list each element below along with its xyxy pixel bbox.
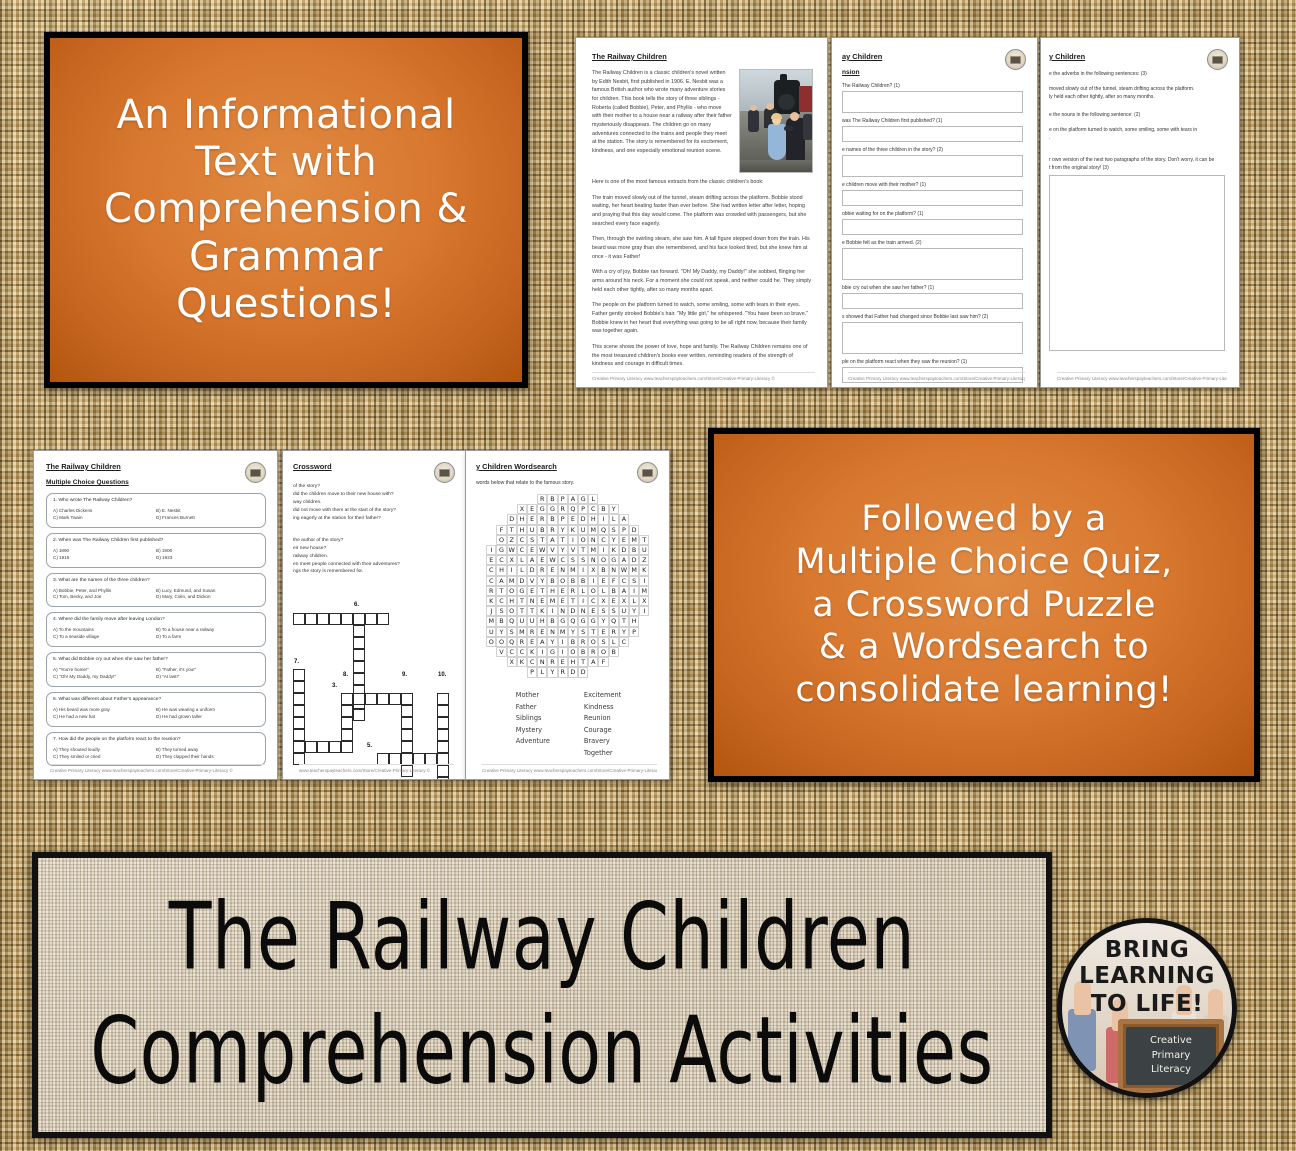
wordsearch-cell[interactable]: Q [507, 637, 517, 647]
wordsearch-cell[interactable]: T [578, 657, 588, 667]
wordsearch-cell[interactable]: L [517, 555, 527, 565]
wordsearch-cell[interactable]: E [537, 555, 547, 565]
crossword-cell[interactable] [437, 741, 449, 753]
wordsearch-cell[interactable]: G [558, 616, 568, 626]
crossword-cell[interactable] [353, 637, 365, 649]
wordsearch-cell[interactable]: G [609, 555, 619, 565]
crossword-cell[interactable] [353, 613, 365, 625]
crossword-cell[interactable] [437, 729, 449, 741]
wordsearch-cell[interactable]: S [496, 606, 506, 616]
wordsearch-cell[interactable]: N [547, 627, 557, 637]
wordsearch-cell[interactable]: T [537, 586, 547, 596]
answer-box[interactable] [842, 126, 1023, 142]
wordsearch-cell[interactable]: L [588, 494, 598, 504]
wordsearch-cell[interactable]: U [527, 525, 537, 535]
wordsearch-cell[interactable]: E [527, 504, 537, 514]
wordsearch-cell[interactable]: B [578, 576, 588, 586]
wordsearch-cell[interactable]: E [527, 586, 537, 596]
wordsearch-cell[interactable]: L [629, 596, 639, 606]
wordsearch-cell[interactable]: E [527, 514, 537, 524]
wordsearch-cell[interactable]: F [598, 657, 608, 667]
wordsearch-cell[interactable]: H [496, 565, 506, 575]
wordsearch-cell[interactable]: I [588, 576, 598, 586]
wordsearch-cell[interactable]: S [609, 606, 619, 616]
wordsearch-cell[interactable]: O [486, 637, 496, 647]
wordsearch-cell[interactable]: R [537, 514, 547, 524]
mc-option-d[interactable]: D) Frances Burnett [156, 515, 259, 522]
mc-option-d[interactable]: D) 1923 [156, 555, 259, 562]
wordsearch-cell[interactable]: N [558, 565, 568, 575]
wordsearch-cell[interactable]: I [558, 637, 568, 647]
wordsearch-cell[interactable]: C [486, 565, 496, 575]
wordsearch-cell[interactable]: I [639, 576, 649, 586]
wordsearch-cell[interactable]: G [547, 504, 557, 514]
wordsearch-cell[interactable]: O [588, 637, 598, 647]
wordsearch-cell[interactable]: S [578, 555, 588, 565]
crossword-cell[interactable] [353, 649, 365, 661]
wordsearch-cell[interactable]: B [547, 576, 557, 586]
wordsearch-cell[interactable]: I [598, 545, 608, 555]
crossword-cell[interactable] [293, 729, 305, 741]
wordsearch-cell[interactable]: W [547, 555, 557, 565]
wordsearch-cell[interactable]: C [588, 596, 598, 606]
wordsearch-cell[interactable]: E [527, 637, 537, 647]
wordsearch-cell[interactable]: K [568, 525, 578, 535]
wordsearch-cell[interactable]: O [588, 586, 598, 596]
wordsearch-cell[interactable]: C [496, 555, 506, 565]
wordsearch-cell[interactable]: E [619, 535, 629, 545]
wordsearch-cell[interactable]: M [629, 565, 639, 575]
mc-option-b[interactable]: B) They turned away [156, 747, 259, 754]
wordsearch-cell[interactable]: H [517, 514, 527, 524]
crossword-cell[interactable] [317, 741, 329, 753]
wordsearch-cell[interactable]: B [496, 616, 506, 626]
wordsearch-cell[interactable]: H [547, 586, 557, 596]
answer-box[interactable] [842, 293, 1023, 309]
wordsearch-cell[interactable]: X [507, 657, 517, 667]
wordsearch-cell[interactable]: R [558, 667, 568, 677]
worksheet-page-grammar[interactable]: y Children e the adverbs in the followin… [1040, 37, 1240, 388]
crossword-cell[interactable] [341, 693, 353, 705]
wordsearch-cell[interactable]: Y [496, 627, 506, 637]
wordsearch-cell[interactable]: A [527, 555, 537, 565]
mc-option-c[interactable]: C) Mark Twain [53, 515, 156, 522]
wordsearch-cell[interactable]: Z [507, 535, 517, 545]
crossword-cell[interactable] [293, 741, 305, 753]
mc-option-c[interactable]: C) 1915 [53, 555, 156, 562]
wordsearch-cell[interactable]: P [558, 494, 568, 504]
wordsearch-cell[interactable]: C [517, 647, 527, 657]
worksheet-page-informational-text[interactable]: The Railway Children The Railway Childre… [575, 37, 828, 388]
wordsearch-cell[interactable]: G [547, 647, 557, 657]
crossword-cell[interactable] [293, 613, 305, 625]
wordsearch-cell[interactable]: U [578, 525, 588, 535]
wordsearch-cell[interactable]: R [486, 586, 496, 596]
crossword-cell[interactable] [341, 613, 353, 625]
wordsearch-cell[interactable]: L [598, 586, 608, 596]
wordsearch-cell[interactable]: J [486, 606, 496, 616]
wordsearch-cell[interactable]: L [537, 667, 547, 677]
wordsearch-cell[interactable]: E [527, 545, 537, 555]
wordsearch-cell[interactable]: R [537, 565, 547, 575]
wordsearch-cell[interactable]: X [639, 596, 649, 606]
answer-box[interactable] [842, 248, 1023, 280]
wordsearch-cell[interactable]: B [568, 576, 578, 586]
wordsearch-cell[interactable]: D [619, 545, 629, 555]
wordsearch-cell[interactable]: E [598, 627, 608, 637]
crossword-cell[interactable] [401, 705, 413, 717]
wordsearch-cell[interactable]: I [547, 606, 557, 616]
wordsearch-cell[interactable]: I [578, 565, 588, 575]
crossword-cell[interactable] [389, 693, 401, 705]
wordsearch-grid[interactable]: RBPAGLXEGGRQPCBYDHERBPEDHILAFTHUBRYKUMQS… [476, 494, 662, 680]
wordsearch-cell[interactable]: M [588, 545, 598, 555]
wordsearch-cell[interactable]: X [507, 555, 517, 565]
crossword-cell[interactable] [293, 705, 305, 717]
wordsearch-cell[interactable]: T [517, 606, 527, 616]
wordsearch-cell[interactable]: Z [639, 555, 649, 565]
wordsearch-cell[interactable]: O [496, 535, 506, 545]
wordsearch-cell[interactable]: Y [619, 627, 629, 637]
wordsearch-cell[interactable]: X [588, 565, 598, 575]
wordsearch-cell[interactable]: E [547, 565, 557, 575]
crossword-cell[interactable] [353, 709, 365, 721]
writing-box[interactable] [1049, 175, 1225, 351]
wordsearch-cell[interactable]: E [558, 657, 568, 667]
wordsearch-cell[interactable]: V [568, 545, 578, 555]
crossword-cell[interactable] [437, 705, 449, 717]
wordsearch-cell[interactable]: A [619, 555, 629, 565]
wordsearch-cell[interactable]: N [578, 606, 588, 616]
crossword-cell[interactable] [377, 613, 389, 625]
wordsearch-cell[interactable]: O [507, 586, 517, 596]
wordsearch-cell[interactable]: O [578, 535, 588, 545]
crossword-cell[interactable] [341, 717, 353, 729]
mc-option-c[interactable]: C) He had a new hat [53, 714, 156, 721]
wordsearch-cell[interactable]: H [568, 657, 578, 667]
wordsearch-cell[interactable]: N [558, 606, 568, 616]
wordsearch-cell[interactable]: D [568, 667, 578, 677]
mc-option-d[interactable]: D) He had grown taller [156, 714, 259, 721]
wordsearch-cell[interactable]: L [517, 565, 527, 575]
wordsearch-cell[interactable]: X [598, 596, 608, 606]
wordsearch-cell[interactable]: D [629, 525, 639, 535]
wordsearch-cell[interactable]: D [578, 514, 588, 524]
wordsearch-cell[interactable]: M [629, 535, 639, 545]
wordsearch-cell[interactable]: P [578, 504, 588, 514]
wordsearch-cell[interactable]: T [639, 535, 649, 545]
wordsearch-cell[interactable]: D [527, 565, 537, 575]
wordsearch-cell[interactable]: D [507, 514, 517, 524]
wordsearch-cell[interactable]: T [527, 606, 537, 616]
crossword-cell[interactable] [401, 717, 413, 729]
wordsearch-cell[interactable]: K [517, 657, 527, 667]
wordsearch-cell[interactable]: A [588, 657, 598, 667]
mc-option-b[interactable]: B) To a house near a railway [156, 627, 259, 634]
crossword-cell[interactable] [437, 777, 449, 780]
wordsearch-cell[interactable]: V [527, 576, 537, 586]
wordsearch-cell[interactable]: T [568, 596, 578, 606]
wordsearch-cell[interactable]: S [507, 627, 517, 637]
wordsearch-cell[interactable]: E [537, 596, 547, 606]
wordsearch-cell[interactable]: V [547, 545, 557, 555]
wordsearch-cell[interactable]: Y [609, 535, 619, 545]
wordsearch-cell[interactable]: K [527, 647, 537, 657]
wordsearch-cell[interactable]: P [619, 525, 629, 535]
wordsearch-cell[interactable]: F [496, 525, 506, 535]
wordsearch-cell[interactable]: I [639, 606, 649, 616]
crossword-cell[interactable] [293, 693, 305, 705]
wordsearch-cell[interactable]: I [537, 647, 547, 657]
mc-option-a[interactable]: A) Charles Dickens [53, 508, 156, 515]
wordsearch-cell[interactable]: C [619, 637, 629, 647]
wordsearch-cell[interactable]: Y [609, 504, 619, 514]
wordsearch-cell[interactable]: H [537, 616, 547, 626]
wordsearch-cell[interactable]: T [578, 545, 588, 555]
wordsearch-cell[interactable]: T [619, 616, 629, 626]
mc-option-b[interactable]: B) Lucy, Edmund, and Susan [156, 588, 259, 595]
wordsearch-cell[interactable]: M [558, 627, 568, 637]
answer-box[interactable] [842, 190, 1023, 206]
wordsearch-cell[interactable]: Y [568, 627, 578, 637]
wordsearch-cell[interactable]: S [598, 606, 608, 616]
wordsearch-cell[interactable]: I [568, 535, 578, 545]
crossword-cell[interactable] [353, 661, 365, 673]
wordsearch-cell[interactable]: U [486, 627, 496, 637]
wordsearch-cell[interactable]: T [496, 586, 506, 596]
wordsearch-cell[interactable]: A [547, 535, 557, 545]
wordsearch-cell[interactable]: G [537, 504, 547, 514]
mc-question-block[interactable]: 1. Who wrote The Railway Children? A) Ch… [46, 493, 266, 528]
wordsearch-cell[interactable]: R [578, 637, 588, 647]
crossword-cell[interactable] [353, 693, 365, 705]
wordsearch-cell[interactable]: A [619, 514, 629, 524]
wordsearch-cell[interactable]: G [517, 586, 527, 596]
worksheet-page-comprehension[interactable]: ay Children nsion The Railway Children? … [831, 37, 1038, 388]
mc-option-a[interactable]: A) To the mountains [53, 627, 156, 634]
wordsearch-cell[interactable]: R [568, 586, 578, 596]
wordsearch-cell[interactable]: B [547, 514, 557, 524]
wordsearch-cell[interactable]: I [486, 545, 496, 555]
wordsearch-cell[interactable]: G [496, 545, 506, 555]
crossword-cell[interactable] [293, 717, 305, 729]
wordsearch-cell[interactable]: C [507, 647, 517, 657]
wordsearch-cell[interactable]: N [537, 657, 547, 667]
mc-option-d[interactable]: D) They clapped their hands [156, 754, 259, 761]
wordsearch-cell[interactable]: E [588, 606, 598, 616]
crossword-cell[interactable] [437, 717, 449, 729]
wordsearch-cell[interactable]: S [568, 555, 578, 565]
wordsearch-cell[interactable]: D [578, 667, 588, 677]
answer-box[interactable] [842, 322, 1023, 354]
wordsearch-cell[interactable]: K [537, 606, 547, 616]
wordsearch-cell[interactable]: N [527, 596, 537, 606]
mc-option-c[interactable]: C) They smiled or cried [53, 754, 156, 761]
wordsearch-cell[interactable]: C [517, 545, 527, 555]
wordsearch-cell[interactable]: B [609, 647, 619, 657]
crossword-cell[interactable] [401, 729, 413, 741]
wordsearch-cell[interactable]: Y [558, 525, 568, 535]
answer-box[interactable] [842, 219, 1023, 235]
wordsearch-cell[interactable]: N [609, 565, 619, 575]
wordsearch-cell[interactable]: L [609, 514, 619, 524]
mc-question-block[interactable]: 7. How did the people on the platform re… [46, 732, 266, 767]
wordsearch-cell[interactable]: B [629, 545, 639, 555]
mc-option-c[interactable]: C) Tom, Becky, and Joe [53, 594, 156, 601]
wordsearch-cell[interactable]: Y [598, 616, 608, 626]
wordsearch-cell[interactable]: R [527, 627, 537, 637]
crossword-cell[interactable] [365, 613, 377, 625]
wordsearch-cell[interactable]: D [568, 606, 578, 616]
crossword-cell[interactable] [329, 741, 341, 753]
wordsearch-cell[interactable]: M [588, 525, 598, 535]
mc-question-block[interactable]: 5. What did Bobbie cry out when she saw … [46, 652, 266, 687]
wordsearch-cell[interactable]: R [547, 525, 557, 535]
wordsearch-cell[interactable]: U [527, 616, 537, 626]
mc-option-d[interactable]: D) "At last!" [156, 674, 259, 681]
wordsearch-cell[interactable]: N [588, 555, 598, 565]
mc-option-b[interactable]: B) E. Nesbit [156, 508, 259, 515]
wordsearch-cell[interactable]: M [507, 576, 517, 586]
wordsearch-cell[interactable]: A [537, 637, 547, 647]
wordsearch-cell[interactable]: B [609, 586, 619, 596]
wordsearch-cell[interactable]: L [578, 586, 588, 596]
mc-option-a[interactable]: A) 1890 [53, 548, 156, 555]
wordsearch-cell[interactable]: I [629, 586, 639, 596]
wordsearch-cell[interactable]: Y [629, 606, 639, 616]
wordsearch-cell[interactable]: D [629, 555, 639, 565]
wordsearch-cell[interactable]: Y [547, 637, 557, 647]
mc-question-block[interactable]: 2. When was The Railway Children first p… [46, 533, 266, 568]
crossword-cell[interactable] [353, 625, 365, 637]
wordsearch-cell[interactable]: C [619, 576, 629, 586]
crossword-cell[interactable] [377, 693, 389, 705]
wordsearch-cell[interactable]: B [598, 565, 608, 575]
crossword-cell[interactable] [317, 613, 329, 625]
wordsearch-cell[interactable]: U [639, 545, 649, 555]
wordsearch-cell[interactable]: L [609, 637, 619, 647]
wordsearch-cell[interactable]: T [558, 535, 568, 545]
wordsearch-cell[interactable]: N [588, 535, 598, 545]
mc-option-b[interactable]: B) "Father, it's you!" [156, 667, 259, 674]
crossword-cell[interactable] [365, 693, 377, 705]
crossword-cell[interactable] [341, 705, 353, 717]
wordsearch-cell[interactable]: E [598, 576, 608, 586]
wordsearch-cell[interactable]: O [496, 637, 506, 647]
wordsearch-cell[interactable]: T [517, 596, 527, 606]
crossword-cell[interactable] [329, 613, 341, 625]
wordsearch-cell[interactable]: B [537, 525, 547, 535]
wordsearch-cell[interactable]: F [609, 576, 619, 586]
wordsearch-cell[interactable]: S [629, 576, 639, 586]
wordsearch-cell[interactable]: Y [558, 545, 568, 555]
wordsearch-cell[interactable]: H [588, 514, 598, 524]
worksheet-page-wordsearch[interactable]: y Children Wordsearch words below that r… [465, 450, 670, 780]
wordsearch-cell[interactable]: W [537, 545, 547, 555]
wordsearch-cell[interactable]: K [486, 596, 496, 606]
mc-question-block[interactable]: 4. Where did the family move after leavi… [46, 612, 266, 647]
wordsearch-cell[interactable]: M [517, 627, 527, 637]
wordsearch-cell[interactable]: O [507, 606, 517, 616]
wordsearch-cell[interactable]: P [558, 514, 568, 524]
crossword-cell[interactable] [293, 669, 305, 681]
wordsearch-cell[interactable]: Q [609, 616, 619, 626]
wordsearch-cell[interactable]: B [547, 494, 557, 504]
wordsearch-cell[interactable]: M [639, 586, 649, 596]
wordsearch-cell[interactable]: U [517, 616, 527, 626]
wordsearch-cell[interactable]: C [558, 555, 568, 565]
answer-box[interactable] [842, 91, 1023, 113]
crossword-cell[interactable] [341, 741, 353, 753]
wordsearch-cell[interactable]: C [496, 596, 506, 606]
wordsearch-cell[interactable]: C [517, 535, 527, 545]
wordsearch-cell[interactable]: I [507, 565, 517, 575]
wordsearch-cell[interactable]: E [537, 627, 547, 637]
wordsearch-cell[interactable]: T [588, 627, 598, 637]
wordsearch-cell[interactable]: O [598, 555, 608, 565]
wordsearch-cell[interactable]: A [568, 494, 578, 504]
mc-question-block[interactable]: 6. What was different about Father's app… [46, 692, 266, 727]
wordsearch-cell[interactable]: K [609, 545, 619, 555]
wordsearch-cell[interactable]: B [578, 647, 588, 657]
worksheet-page-multiple-choice[interactable]: The Railway Children Multiple Choice Que… [33, 450, 278, 780]
wordsearch-cell[interactable]: C [588, 504, 598, 514]
wordsearch-cell[interactable]: Y [547, 667, 557, 677]
wordsearch-cell[interactable]: O [598, 647, 608, 657]
crossword-cell[interactable] [305, 613, 317, 625]
wordsearch-cell[interactable]: S [578, 627, 588, 637]
wordsearch-cell[interactable]: X [517, 504, 527, 514]
crossword-cell[interactable] [401, 741, 413, 753]
wordsearch-cell[interactable]: E [568, 514, 578, 524]
wordsearch-cell[interactable]: Q [507, 616, 517, 626]
wordsearch-cell[interactable]: R [588, 647, 598, 657]
crossword-cell[interactable] [341, 729, 353, 741]
answer-box[interactable] [842, 155, 1023, 177]
wordsearch-cell[interactable]: T [507, 525, 517, 535]
wordsearch-cell[interactable]: V [496, 647, 506, 657]
mc-option-a[interactable]: A) Bobbie, Peter, and Phyllis [53, 588, 156, 595]
wordsearch-cell[interactable]: R [537, 494, 547, 504]
crossword-cell[interactable] [305, 741, 317, 753]
mc-option-b[interactable]: B) He was wearing a uniform [156, 707, 259, 714]
wordsearch-cell[interactable]: Y [537, 576, 547, 586]
wordsearch-cell[interactable]: G [578, 494, 588, 504]
wordsearch-cell[interactable]: B [568, 637, 578, 647]
wordsearch-cell[interactable]: R [547, 657, 557, 667]
mc-option-c[interactable]: C) "Oh! My Daddy, my Daddy!" [53, 674, 156, 681]
worksheet-page-crossword[interactable]: Crossword of the story? did the children… [282, 450, 467, 780]
wordsearch-cell[interactable]: S [598, 637, 608, 647]
wordsearch-cell[interactable]: I [598, 514, 608, 524]
crossword-cell[interactable] [401, 693, 413, 705]
wordsearch-cell[interactable]: O [568, 647, 578, 657]
wordsearch-cell[interactable]: E [486, 555, 496, 565]
wordsearch-cell[interactable]: M [486, 616, 496, 626]
wordsearch-cell[interactable]: Q [568, 504, 578, 514]
crossword-cell[interactable] [437, 693, 449, 705]
wordsearch-cell[interactable]: G [588, 616, 598, 626]
mc-option-a[interactable]: A) They shouted loudly [53, 747, 156, 754]
wordsearch-cell[interactable]: E [558, 586, 568, 596]
wordsearch-cell[interactable]: B [598, 504, 608, 514]
mc-option-b[interactable]: B) 1906 [156, 548, 259, 555]
wordsearch-cell[interactable]: R [558, 504, 568, 514]
wordsearch-cell[interactable]: C [598, 535, 608, 545]
mc-option-a[interactable]: A) "You're home!" [53, 667, 156, 674]
wordsearch-cell[interactable]: Q [568, 616, 578, 626]
wordsearch-cell[interactable]: H [629, 616, 639, 626]
